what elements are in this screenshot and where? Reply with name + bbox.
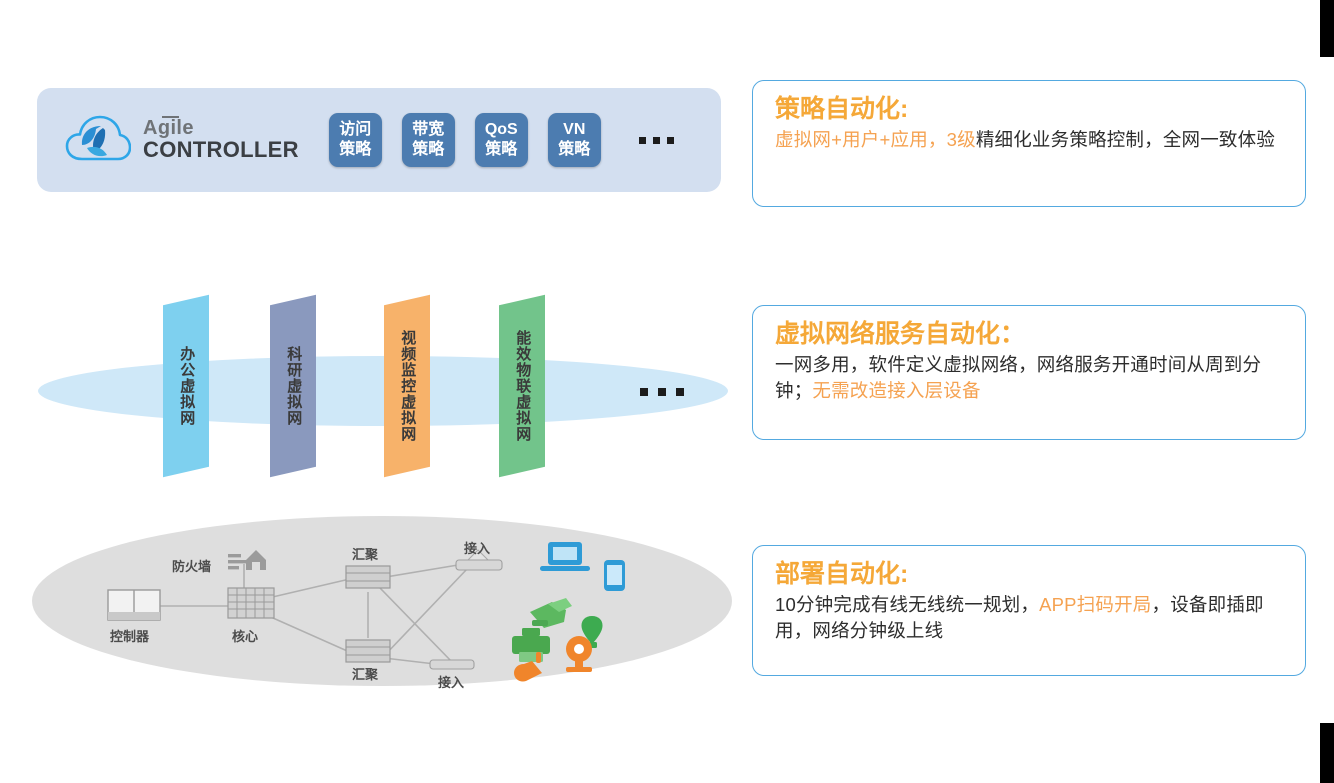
vn-plane-office: 办公虚拟网 — [163, 295, 209, 478]
right-edge-strip-bottom — [1320, 723, 1334, 783]
virtual-network-diagram: 办公虚拟网 科研虚拟网 视频监控虚拟网 能效物联虚拟网 — [30, 300, 730, 495]
chip-line1: 访问 — [339, 120, 371, 140]
card-title: 策略自动化: — [775, 95, 1285, 125]
tablet-icon — [604, 560, 625, 591]
card-body-highlight: APP扫码开局 — [1039, 594, 1151, 615]
chip-line1: 带宽 — [412, 120, 444, 140]
card-title: 部署自动化: — [775, 560, 1285, 590]
logo-macron — [162, 116, 179, 118]
deployment-automation-card: 部署自动化: 10分钟完成有线无线统一规划，APP扫码开局，设备即插即用，网络分… — [752, 545, 1306, 676]
topology-label-aggregation-bottom: 汇聚 — [352, 664, 378, 683]
vn-plane-label: 能效物联虚拟网 — [514, 330, 530, 442]
chip-vn-policy[interactable]: VN 策略 — [548, 113, 601, 167]
chip-line2: 策略 — [558, 140, 590, 160]
vn-plane-energy-iot: 能效物联虚拟网 — [499, 295, 545, 478]
card-body-highlight: 无需改造接入层设备 — [812, 380, 980, 401]
vn-plane-video-surveillance: 视频监控虚拟网 — [384, 295, 430, 478]
card-body: 10分钟完成有线无线统一规划，APP扫码开局，设备即插即用，网络分钟级上线 — [775, 592, 1285, 645]
policy-more-dots-icon — [639, 137, 674, 144]
vn-plane-label: 视频监控虚拟网 — [399, 330, 415, 442]
slide-canvas: Agile CONTROLLER 访问 策略 带宽 策略 QoS 策略 VN 策… — [0, 0, 1334, 783]
topology-label-controller: 控制器 — [110, 626, 149, 645]
controller-device-icon — [108, 590, 160, 620]
access-ap-bottom-icon — [430, 660, 474, 669]
vn-plane-research: 科研虚拟网 — [270, 295, 316, 478]
topology-label-firewall: 防火墙 — [172, 556, 211, 575]
card-body-rest: 精细化业务策略控制，全网一致体验 — [976, 129, 1275, 150]
firewall-device-icon — [228, 550, 266, 570]
topology-links-and-devices — [32, 516, 732, 696]
vn-plane-label: 办公虚拟网 — [178, 346, 194, 426]
aggregation-switch-top-icon — [346, 566, 390, 588]
chip-line1: VN — [563, 120, 585, 140]
card-title: 虚拟网络服务自动化： — [775, 320, 1285, 350]
card-body: 一网多用，软件定义虚拟网络，网络服务开通时间从周到分钟；无需改造接入层设备 — [775, 352, 1285, 405]
topology-label-access-bottom: 接入 — [438, 672, 464, 691]
laptop-icon — [540, 542, 590, 571]
policy-automation-card: 策略自动化: 虚拟网+用户+应用，3级精细化业务策略控制，全网一致体验 — [752, 80, 1306, 207]
chip-qos-policy[interactable]: QoS 策略 — [475, 113, 528, 167]
printer-icon — [512, 628, 550, 662]
logo-agile-text: Agile — [143, 118, 194, 138]
agile-controller-bar: Agile CONTROLLER 访问 策略 带宽 策略 QoS 策略 VN 策… — [37, 88, 721, 192]
aggregation-switch-bottom-icon — [346, 640, 390, 662]
card-body: 虚拟网+用户+应用，3级精细化业务策略控制，全网一致体验 — [775, 127, 1285, 153]
topology-label-aggregation-top: 汇聚 — [352, 544, 378, 563]
topology-label-core: 核心 — [232, 626, 258, 645]
topology-label-access-top: 接入 — [464, 538, 490, 557]
logo-agile-label: Agile — [143, 117, 194, 139]
chip-access-policy[interactable]: 访问 策略 — [329, 113, 382, 167]
vn-more-dots-icon — [640, 388, 684, 396]
right-edge-strip-top — [1320, 0, 1334, 57]
policy-chip-group: 访问 策略 带宽 策略 QoS 策略 VN 策略 — [329, 113, 674, 167]
vn-plane-label: 科研虚拟网 — [285, 346, 301, 426]
chip-line1: QoS — [485, 120, 518, 140]
chip-line2: 策略 — [485, 140, 517, 160]
agile-controller-logo: Agile CONTROLLER — [65, 114, 299, 166]
logo-wordmark: Agile CONTROLLER — [143, 118, 299, 162]
network-substrate-ellipse — [38, 356, 728, 426]
card-body-highlight: 虚拟网+用户+应用，3级 — [775, 129, 976, 150]
virtual-network-service-automation-card: 虚拟网络服务自动化： 一网多用，软件定义虚拟网络，网络服务开通时间从周到分钟；无… — [752, 305, 1306, 440]
network-topology-diagram: 控制器 防火墙 核心 汇聚 汇聚 接入 接入 — [32, 516, 732, 696]
chip-line2: 策略 — [339, 140, 371, 160]
card-body-rest: 10分钟完成有线无线统一规划， — [775, 594, 1039, 615]
chip-line2: 策略 — [412, 140, 444, 160]
core-switch-icon — [228, 588, 274, 618]
projector-icon — [530, 598, 572, 628]
cloud-swirl-icon — [65, 114, 131, 166]
logo-controller-text: CONTROLLER — [143, 139, 299, 161]
webcam-icon — [566, 636, 592, 672]
chip-bandwidth-policy[interactable]: 带宽 策略 — [402, 113, 455, 167]
